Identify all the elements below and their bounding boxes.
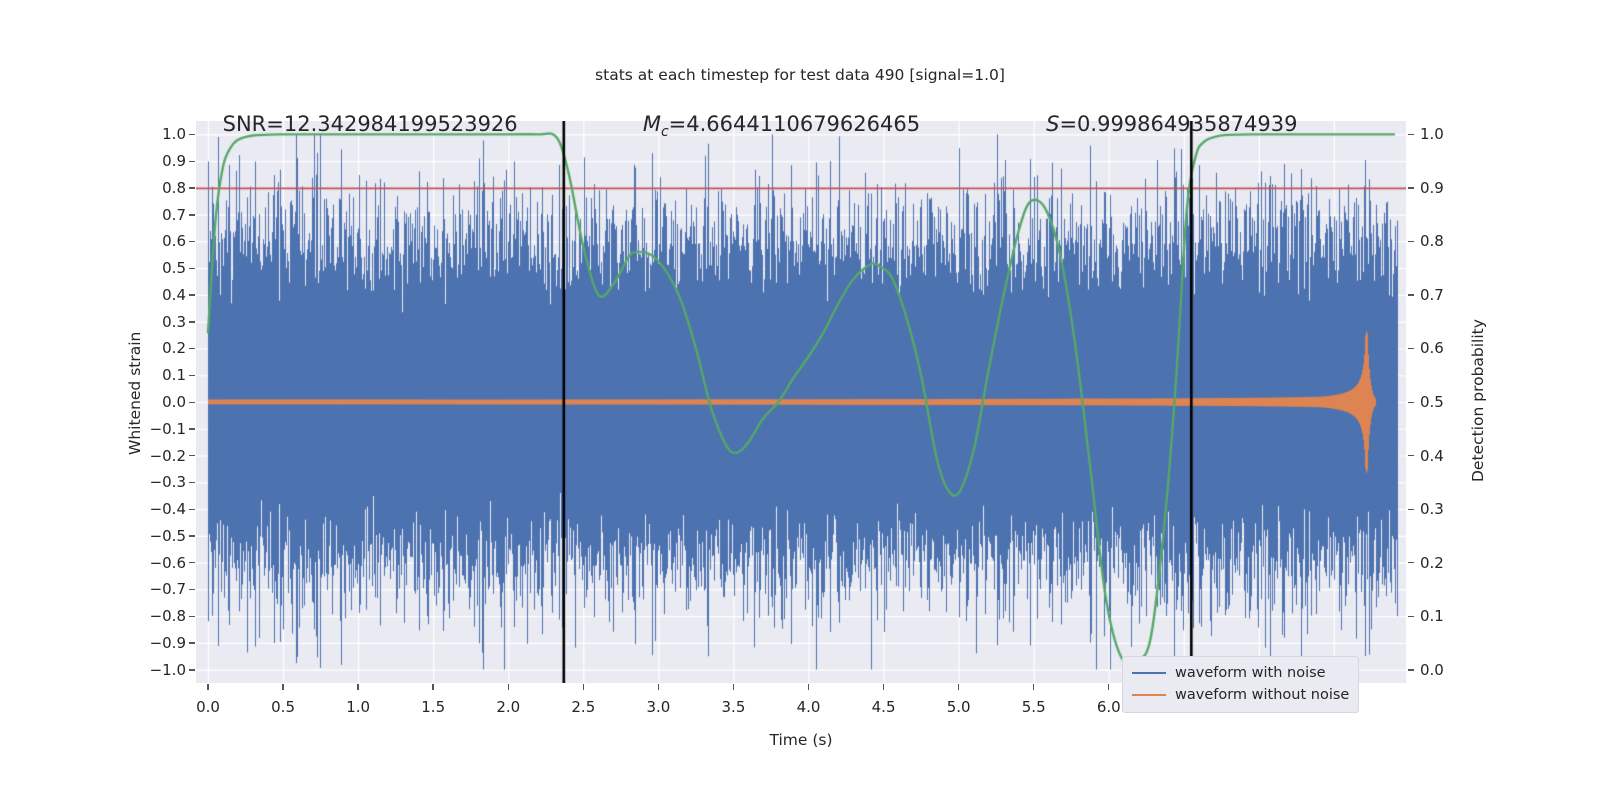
secondary-y-tick-label: 0.9 (1420, 179, 1444, 197)
y-tick-mark (189, 616, 195, 617)
y-tick-mark (189, 268, 195, 269)
y-tick-label: 0.3 (148, 313, 186, 331)
secondary-y-tick-mark (1408, 616, 1414, 617)
x-tick-label: 1.5 (421, 698, 445, 716)
x-tick-label: 1.0 (346, 698, 370, 716)
x-tick-mark (1108, 684, 1109, 690)
x-tick-label: 2.5 (571, 698, 595, 716)
y-tick-label: 0.9 (148, 152, 186, 170)
chart-title: stats at each timestep for test data 490… (0, 66, 1600, 84)
secondary-y-tick-label: 0.8 (1420, 232, 1444, 250)
secondary-y-tick-label: 0.6 (1420, 339, 1444, 357)
x-tick-mark (883, 684, 884, 690)
legend-swatch-signal (1132, 694, 1166, 696)
secondary-y-tick-mark (1408, 348, 1414, 349)
y-tick-label: 0.5 (148, 259, 186, 277)
x-tick-label: 0.5 (271, 698, 295, 716)
y-tick-mark (189, 535, 195, 536)
secondary-y-tick-label: 0.5 (1420, 393, 1444, 411)
legend-swatch-noise (1132, 672, 1166, 674)
y-tick-mark (189, 402, 195, 403)
x-tick-label: 3.5 (722, 698, 746, 716)
x-tick-label: 2.0 (496, 698, 520, 716)
legend-item[interactable]: waveform with noise (1132, 662, 1349, 684)
x-tick-label: 5.0 (947, 698, 971, 716)
y-tick-label: 1.0 (148, 125, 186, 143)
y-tick-mark (189, 589, 195, 590)
y-tick-mark (189, 509, 195, 510)
y-tick-mark (189, 669, 195, 670)
annotation-score: S=0.999864935874939 (1046, 112, 1297, 136)
y-axis-label: Whitened strain (126, 332, 144, 455)
y-tick-label: 0.1 (148, 366, 186, 384)
secondary-y-tick-label: 0.3 (1420, 500, 1444, 518)
x-tick-mark (508, 684, 509, 690)
y-tick-label: −0.5 (148, 527, 186, 545)
y-tick-label: −0.9 (148, 634, 186, 652)
secondary-y-tick-label: 1.0 (1420, 125, 1444, 143)
y-tick-label: −0.1 (148, 420, 186, 438)
x-tick-mark (282, 684, 283, 690)
legend-item[interactable]: waveform without noise (1132, 684, 1349, 706)
y-tick-label: −0.2 (148, 447, 186, 465)
x-tick-mark (958, 684, 959, 690)
y-tick-label: 0.4 (148, 286, 186, 304)
y-tick-mark (189, 375, 195, 376)
legend-label: waveform without noise (1175, 687, 1349, 703)
annotation-chirp-mass: Mc=4.6644110679626465 (643, 112, 920, 140)
secondary-y-tick-mark (1408, 562, 1414, 563)
plot-area[interactable] (196, 121, 1406, 683)
y-tick-mark (189, 642, 195, 643)
x-tick-label: 4.0 (797, 698, 821, 716)
x-tick-mark (658, 684, 659, 690)
x-tick-mark (432, 684, 433, 690)
y-tick-mark (189, 562, 195, 563)
y-tick-label: 0.8 (148, 179, 186, 197)
y-tick-label: −0.3 (148, 473, 186, 491)
annotation-snr: SNR=12.342984199523926 (223, 112, 518, 136)
legend-label: waveform with noise (1175, 665, 1326, 681)
y-tick-mark (189, 294, 195, 295)
secondary-y-tick-label: 0.7 (1420, 286, 1444, 304)
secondary-y-tick-mark (1408, 669, 1414, 670)
y-tick-mark (189, 161, 195, 162)
y-tick-mark (189, 241, 195, 242)
secondary-y-tick-label: 0.2 (1420, 554, 1444, 572)
secondary-y-tick-label: 0.4 (1420, 447, 1444, 465)
y-tick-mark (189, 134, 195, 135)
x-tick-label: 0.0 (196, 698, 220, 716)
y-tick-mark (189, 428, 195, 429)
y-tick-mark (189, 187, 195, 188)
x-tick-mark (207, 684, 208, 690)
y-tick-label: 0.6 (148, 232, 186, 250)
secondary-y-tick-mark (1408, 241, 1414, 242)
y-tick-mark (189, 348, 195, 349)
y-tick-label: 0.2 (148, 339, 186, 357)
secondary-y-tick-mark (1408, 187, 1414, 188)
x-tick-mark (357, 684, 358, 690)
y-tick-mark (189, 214, 195, 215)
legend[interactable]: waveform with noise waveform without noi… (1122, 656, 1359, 713)
y-tick-label: −0.6 (148, 554, 186, 572)
secondary-y-tick-label: 0.1 (1420, 607, 1444, 625)
secondary-y-tick-mark (1408, 134, 1414, 135)
secondary-y-tick-label: 0.0 (1420, 661, 1444, 679)
x-axis-label: Time (s) (0, 731, 1600, 749)
y-tick-label: −0.8 (148, 607, 186, 625)
x-tick-label: 4.5 (872, 698, 896, 716)
figure: stats at each timestep for test data 490… (0, 0, 1600, 800)
y-tick-label: −0.7 (148, 580, 186, 598)
x-tick-mark (733, 684, 734, 690)
y-tick-mark (189, 321, 195, 322)
x-tick-label: 5.5 (1022, 698, 1046, 716)
secondary-y-axis-label: Detection probability (1469, 319, 1487, 482)
x-tick-label: 3.0 (646, 698, 670, 716)
y-tick-label: −0.4 (148, 500, 186, 518)
secondary-y-tick-mark (1408, 294, 1414, 295)
secondary-y-tick-mark (1408, 509, 1414, 510)
x-tick-mark (808, 684, 809, 690)
y-tick-label: 0.0 (148, 393, 186, 411)
x-tick-mark (583, 684, 584, 690)
x-tick-label: 6.0 (1097, 698, 1121, 716)
y-tick-label: 0.7 (148, 206, 186, 224)
y-tick-label: −1.0 (148, 661, 186, 679)
x-tick-mark (1033, 684, 1034, 690)
y-tick-mark (189, 482, 195, 483)
secondary-y-tick-mark (1408, 402, 1414, 403)
y-tick-mark (189, 455, 195, 456)
secondary-y-tick-mark (1408, 455, 1414, 456)
